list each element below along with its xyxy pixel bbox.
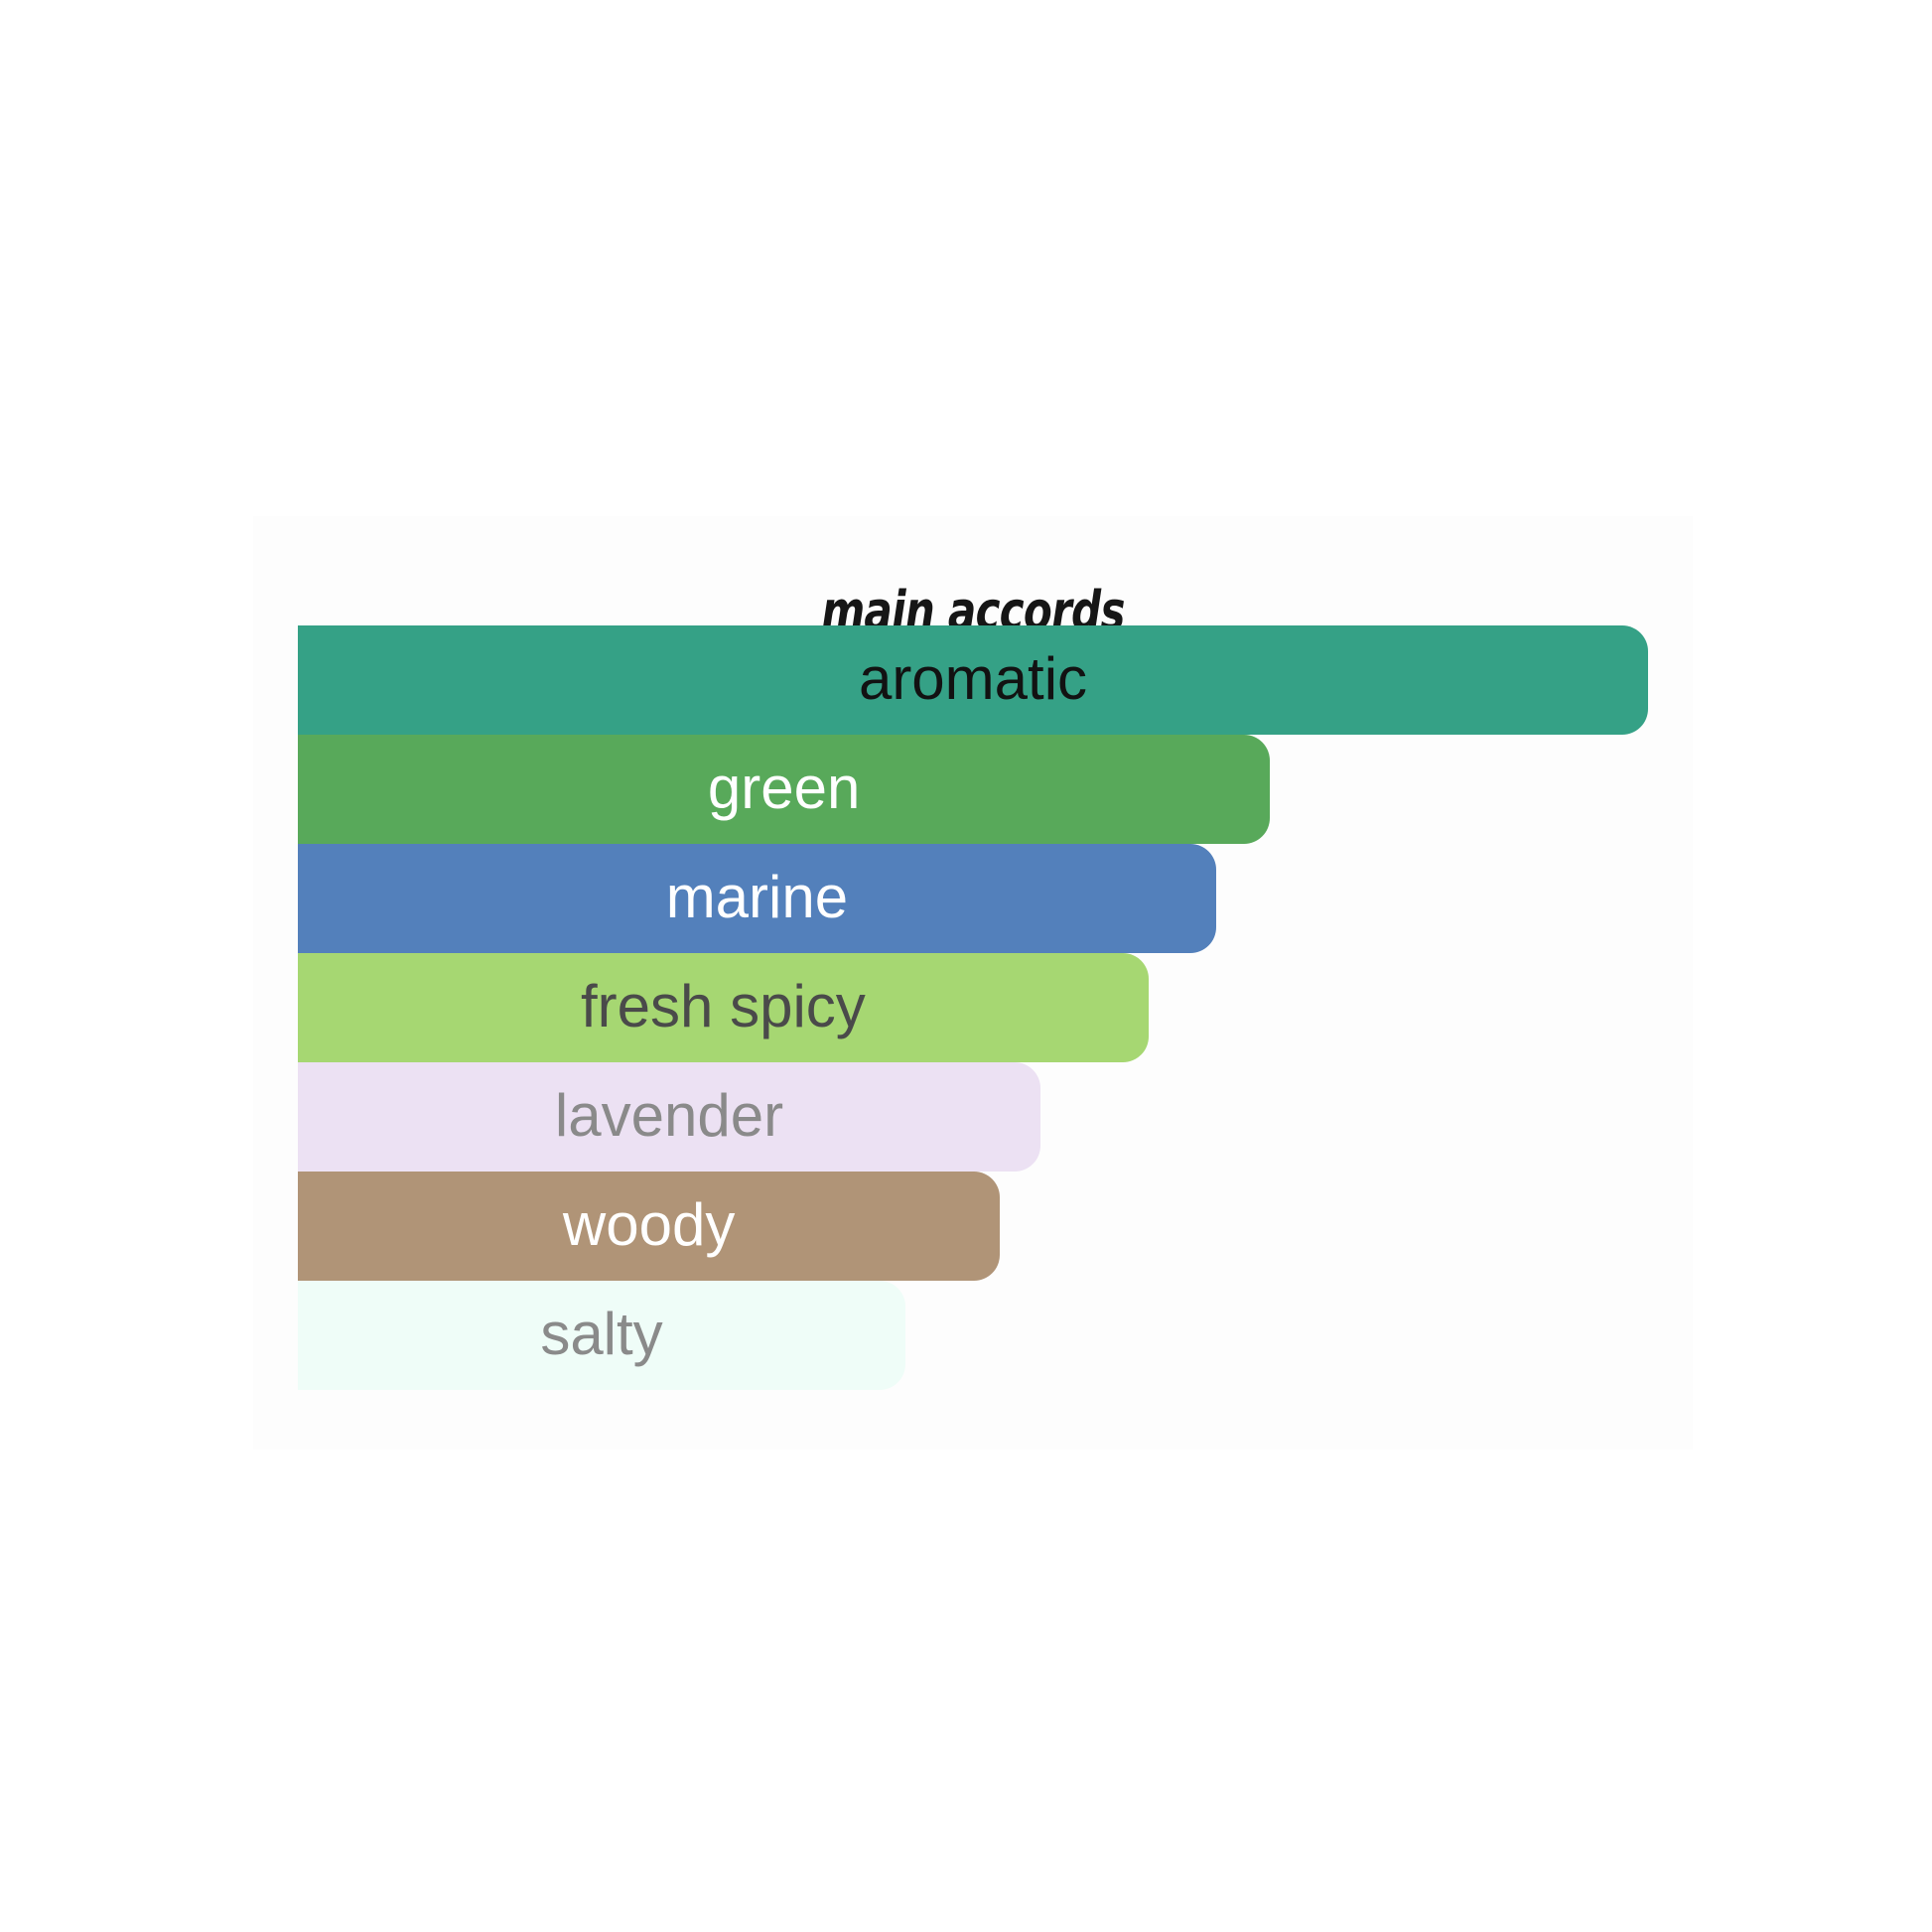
accord-bar-aromatic[interactable]: aromatic — [298, 625, 1648, 735]
accord-label: marine — [666, 868, 848, 927]
accord-bar-fresh-spicy[interactable]: fresh spicy — [298, 953, 1149, 1062]
accord-label: green — [708, 759, 860, 818]
accord-bar-green[interactable]: green — [298, 735, 1270, 844]
main-accords-panel: main accords aromaticgreenmarinefresh sp… — [253, 516, 1693, 1449]
screenshot-canvas: main accords aromaticgreenmarinefresh sp… — [0, 0, 1932, 1932]
accord-bar-woody[interactable]: woody — [298, 1172, 1000, 1281]
accord-bar-salty[interactable]: salty — [298, 1281, 905, 1390]
accord-label: fresh spicy — [581, 977, 866, 1036]
accord-label: lavender — [555, 1086, 783, 1146]
accord-label: salty — [540, 1305, 662, 1364]
accord-label: aromatic — [859, 649, 1087, 709]
accord-bar-lavender[interactable]: lavender — [298, 1062, 1040, 1172]
accord-label: woody — [563, 1195, 735, 1255]
accords-bar-list: aromaticgreenmarinefresh spicylavenderwo… — [298, 625, 1693, 1390]
accord-bar-marine[interactable]: marine — [298, 844, 1216, 953]
